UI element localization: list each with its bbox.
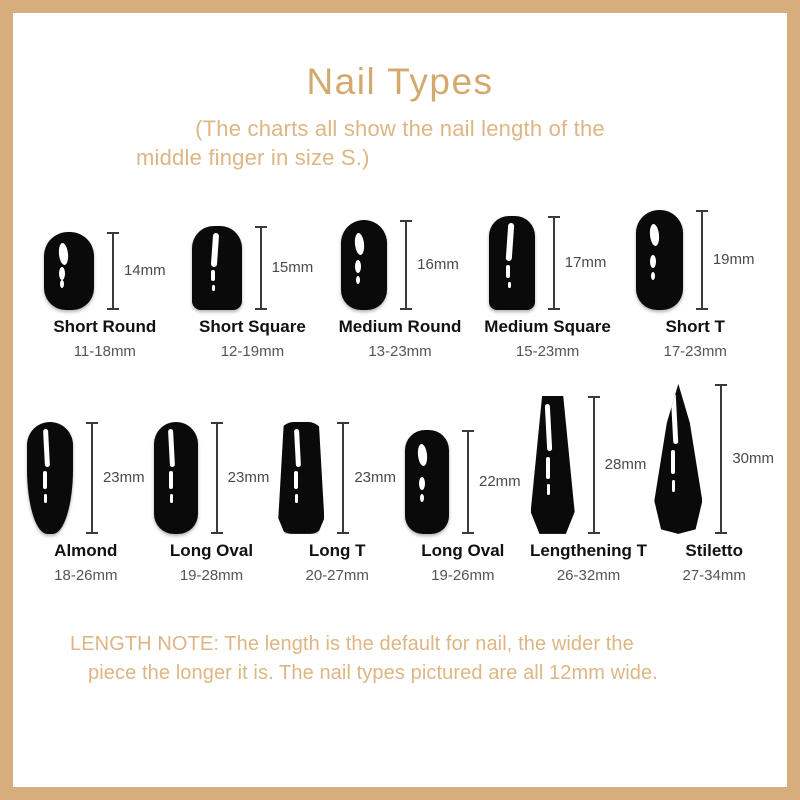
nail-gloss-highlight [417, 444, 428, 467]
measurement-cap-bottom [337, 532, 349, 534]
measurement-stem [342, 422, 344, 534]
nail-cell: 23mmLong T20-27mm [274, 394, 400, 584]
measurement-cap-top [211, 422, 223, 424]
nail-cell: 30mmStiletto27-34mm [651, 394, 777, 584]
nail-gloss-highlight [294, 471, 298, 489]
nail-cell: 14mmShort Round11-18mm [31, 198, 179, 360]
measurement-bar [86, 422, 98, 534]
measurement-label: 14mm [124, 262, 166, 279]
nail-cell: 28mmLengthening T26-32mm [526, 394, 652, 584]
nail-gloss-highlight [43, 429, 50, 467]
nail-gloss-highlight [419, 477, 425, 490]
length-note: LENGTH NOTE: The length is the default f… [70, 630, 730, 688]
measurement-bar [696, 210, 708, 310]
page-subtitle: (The charts all show the nail length of … [100, 114, 700, 172]
nail-gloss-highlight [58, 242, 69, 265]
nail-type-name: Long Oval [421, 541, 504, 561]
measurement-cap-top [337, 422, 349, 424]
nail-type-name: Short T [665, 317, 725, 337]
nail-length-range: 18-26mm [54, 567, 117, 584]
nail-type-name: Short Round [53, 317, 156, 337]
nail-length-range: 13-23mm [368, 343, 431, 360]
nail-type-name: Long Oval [170, 541, 253, 561]
nail-length-range: 15-23mm [516, 343, 579, 360]
nail-shape-icon [531, 396, 575, 534]
nail-wrap: 14mm [44, 232, 166, 310]
measurement-stem [112, 232, 114, 310]
measurement-label: 16mm [417, 256, 459, 273]
nail-gloss-highlight [170, 494, 173, 503]
nail-length-range: 11-18mm [74, 343, 136, 360]
measurement-cap-top [696, 210, 708, 212]
nail-type-name: Lengthening T [530, 541, 647, 561]
nail-gloss-highlight [211, 270, 215, 282]
measurement-bar [255, 226, 267, 310]
nail-shape-icon [192, 226, 242, 310]
measurement-stem [216, 422, 218, 534]
measurement-cap-bottom [86, 532, 98, 534]
nail-figure: 30mm [654, 394, 774, 534]
measurement-label: 15mm [272, 259, 314, 276]
nail-length-range: 19-28mm [180, 567, 243, 584]
measurement-cap-top [255, 226, 267, 228]
nail-wrap: 22mm [405, 430, 521, 534]
nail-figure: 19mm [636, 198, 755, 310]
measurement-label: 23mm [354, 469, 396, 486]
measurement-bar [462, 430, 474, 534]
nail-figure: 23mm [154, 394, 270, 534]
measurement-label: 28mm [605, 456, 647, 473]
measurement-indicator: 23mm [211, 422, 270, 534]
nail-length-range: 17-23mm [664, 343, 727, 360]
nail-gloss-highlight [506, 223, 515, 261]
nail-types-infographic: Nail Types (The charts all show the nail… [0, 0, 800, 800]
measurement-bar [548, 216, 560, 310]
nail-row-1: 14mmShort Round11-18mm15mmShort Square12… [13, 198, 787, 360]
nail-gloss-highlight [168, 429, 175, 467]
nail-length-range: 12-19mm [221, 343, 284, 360]
measurement-label: 22mm [479, 473, 521, 490]
measurement-stem [720, 384, 722, 534]
nail-cell: 19mmShort T17-23mm [621, 198, 769, 360]
nail-shape-icon [44, 232, 94, 310]
measurement-label: 17mm [565, 254, 607, 271]
nail-gloss-highlight [355, 260, 361, 273]
nail-gloss-highlight [508, 282, 511, 289]
nail-cell: 23mmLong Oval19-28mm [149, 394, 275, 584]
nail-figure: 15mm [192, 198, 314, 310]
nail-gloss-highlight [169, 471, 173, 489]
nail-shape-icon [489, 216, 535, 310]
measurement-indicator: 17mm [548, 216, 607, 310]
nail-gloss-highlight [210, 232, 218, 266]
measurement-cap-bottom [548, 308, 560, 310]
measurement-bar [337, 422, 349, 534]
measurement-cap-top [588, 396, 600, 398]
nail-type-name: Stiletto [685, 541, 743, 561]
measurement-label: 23mm [228, 469, 270, 486]
nail-wrap: 30mm [654, 384, 774, 534]
measurement-stem [91, 422, 93, 534]
nail-figure: 28mm [531, 394, 647, 534]
nail-gloss-highlight [650, 255, 656, 268]
nail-type-name: Almond [54, 541, 117, 561]
nail-cell: 23mmAlmond18-26mm [23, 394, 149, 584]
nail-wrap: 16mm [341, 220, 459, 310]
measurement-cap-top [715, 384, 727, 386]
nail-figure: 17mm [489, 198, 607, 310]
nail-shape-icon [278, 422, 324, 534]
measurement-cap-bottom [588, 532, 600, 534]
measurement-indicator: 19mm [696, 210, 755, 310]
nail-gloss-highlight [649, 223, 660, 246]
subtitle-line-2: middle finger in size S.) [100, 143, 700, 172]
nail-shape-icon [341, 220, 387, 310]
nail-figure: 23mm [27, 394, 145, 534]
measurement-bar [588, 396, 600, 534]
page-title: Nail Types [13, 63, 787, 102]
measurement-indicator: 23mm [337, 422, 396, 534]
nail-gloss-highlight [44, 494, 47, 503]
measurement-cap-top [86, 422, 98, 424]
nail-type-name: Long T [309, 541, 366, 561]
measurement-cap-bottom [107, 308, 119, 310]
measurement-label: 23mm [103, 469, 145, 486]
nail-figure: 23mm [278, 394, 396, 534]
nail-gloss-highlight [547, 484, 550, 495]
measurement-indicator: 14mm [107, 232, 166, 310]
length-note-line-2: piece the longer it is. The nail types p… [70, 659, 730, 688]
measurement-indicator: 30mm [715, 384, 774, 534]
nail-gloss-highlight [43, 471, 47, 489]
measurement-stem [593, 396, 595, 534]
nail-gloss-highlight [212, 285, 215, 291]
nail-type-name: Short Square [199, 317, 306, 337]
measurement-stem [701, 210, 703, 310]
nail-cell: 22mmLong Oval19-26mm [400, 394, 526, 584]
nail-cell: 15mmShort Square12-19mm [179, 198, 327, 360]
nail-wrap: 23mm [27, 422, 145, 534]
measurement-indicator: 22mm [462, 430, 521, 534]
nail-gloss-highlight [294, 429, 301, 467]
measurement-indicator: 23mm [86, 422, 145, 534]
measurement-cap-bottom [696, 308, 708, 310]
nail-gloss-highlight [356, 276, 360, 284]
nail-gloss-highlight [295, 494, 298, 503]
nail-cell: 17mmMedium Square15-23mm [474, 198, 622, 360]
measurement-bar [715, 384, 727, 534]
nail-length-range: 19-26mm [431, 567, 494, 584]
measurement-indicator: 16mm [400, 220, 459, 310]
nail-type-name: Medium Square [484, 317, 611, 337]
nail-gloss-highlight [546, 457, 550, 479]
nail-wrap: 23mm [278, 422, 396, 534]
subtitle-line-1: (The charts all show the nail length of … [100, 114, 700, 143]
nail-cell: 16mmMedium Round13-23mm [326, 198, 474, 360]
nail-length-range: 27-34mm [683, 567, 746, 584]
nail-gloss-highlight [651, 272, 655, 280]
measurement-cap-bottom [255, 308, 267, 310]
nail-gloss-highlight [59, 267, 65, 280]
nail-gloss-highlight [354, 232, 365, 255]
measurement-cap-bottom [400, 308, 412, 310]
nail-wrap: 28mm [531, 396, 647, 534]
measurement-stem [467, 430, 469, 534]
nail-gloss-highlight [672, 480, 675, 492]
nail-length-range: 20-27mm [305, 567, 368, 584]
nail-figure: 22mm [405, 394, 521, 534]
measurement-cap-top [400, 220, 412, 222]
nail-figure: 16mm [341, 198, 459, 310]
nail-gloss-highlight [545, 404, 552, 451]
nail-wrap: 17mm [489, 216, 607, 310]
nail-shape-icon [405, 430, 449, 534]
measurement-label: 19mm [713, 251, 755, 268]
nail-shape-icon [654, 384, 702, 534]
header: Nail Types (The charts all show the nail… [13, 13, 787, 172]
nail-length-range: 26-32mm [557, 567, 620, 584]
nail-gloss-highlight [506, 265, 510, 278]
measurement-label: 30mm [732, 450, 774, 467]
measurement-stem [260, 226, 262, 310]
nail-wrap: 15mm [192, 226, 314, 310]
measurement-bar [400, 220, 412, 310]
nail-wrap: 19mm [636, 210, 755, 310]
nail-row-2: 23mmAlmond18-26mm23mmLong Oval19-28mm23m… [13, 394, 787, 584]
nail-gloss-highlight [420, 494, 424, 502]
nail-gloss-highlight [60, 280, 64, 288]
nail-shape-icon [27, 422, 73, 534]
nail-gloss-highlight [670, 393, 678, 444]
measurement-bar [211, 422, 223, 534]
measurement-cap-top [107, 232, 119, 234]
measurement-cap-bottom [211, 532, 223, 534]
measurement-cap-top [548, 216, 560, 218]
nail-figure: 14mm [44, 198, 166, 310]
nail-shape-icon [636, 210, 683, 310]
nail-gloss-highlight [671, 450, 675, 474]
measurement-stem [405, 220, 407, 310]
nail-wrap: 23mm [154, 422, 270, 534]
measurement-cap-top [462, 430, 474, 432]
measurement-indicator: 15mm [255, 226, 314, 310]
card: Nail Types (The charts all show the nail… [13, 13, 787, 787]
length-note-line-1: LENGTH NOTE: The length is the default f… [70, 630, 730, 659]
measurement-cap-bottom [715, 532, 727, 534]
measurement-bar [107, 232, 119, 310]
measurement-cap-bottom [462, 532, 474, 534]
measurement-indicator: 28mm [588, 396, 647, 534]
measurement-stem [553, 216, 555, 310]
nail-shape-icon [154, 422, 198, 534]
nail-type-name: Medium Round [339, 317, 462, 337]
